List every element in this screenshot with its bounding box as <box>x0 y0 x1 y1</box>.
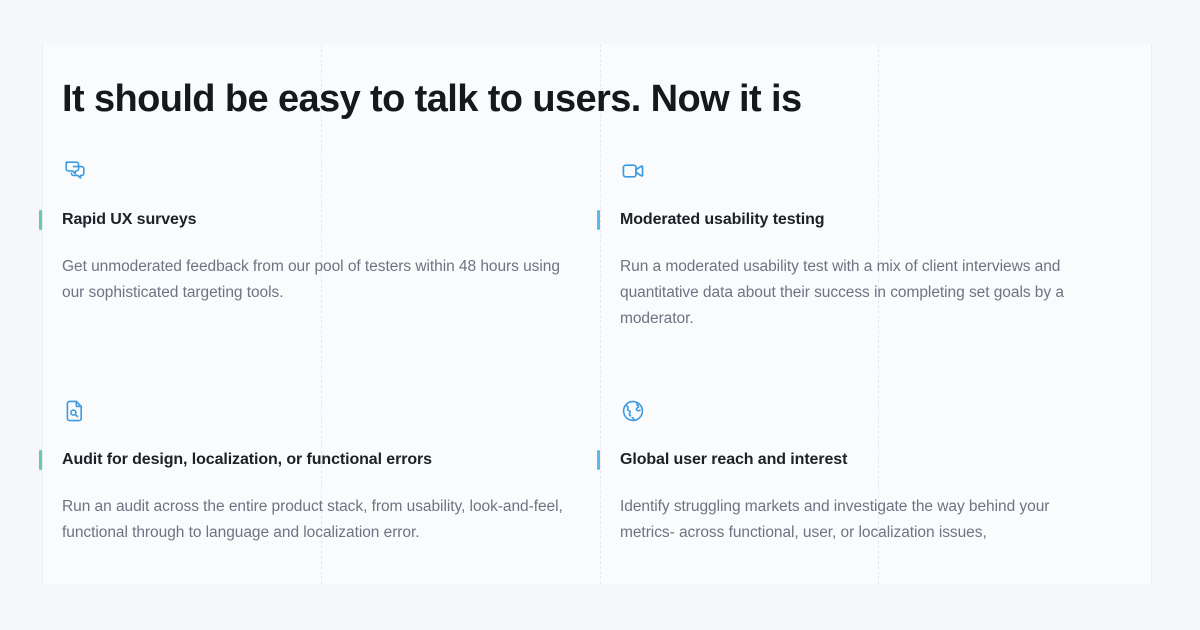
accent-bar <box>597 450 600 470</box>
feature-grid: Rapid UX surveys Get unmoderated feedbac… <box>62 158 1132 561</box>
chat-bubbles-icon <box>62 158 586 184</box>
feature-description: Identify struggling markets and investig… <box>620 494 1098 546</box>
feature-title-row: Audit for design, localization, or funct… <box>62 450 586 470</box>
section-headline: It should be easy to talk to users. Now … <box>62 44 1132 122</box>
globe-icon <box>620 398 1098 424</box>
feature-title: Moderated usability testing <box>620 210 824 230</box>
feature-description: Run an audit across the entire product s… <box>62 494 572 546</box>
page-root: It should be easy to talk to users. Now … <box>0 0 1200 630</box>
feature-card-rapid-ux-surveys: Rapid UX surveys Get unmoderated feedbac… <box>62 158 620 348</box>
accent-bar <box>39 210 42 230</box>
feature-title-row: Rapid UX surveys <box>62 210 586 230</box>
feature-description: Run a moderated usability test with a mi… <box>620 254 1098 332</box>
feature-title: Audit for design, localization, or funct… <box>62 450 432 470</box>
section-content: It should be easy to talk to users. Now … <box>62 44 1132 584</box>
accent-bar <box>597 210 600 230</box>
feature-title-row: Global user reach and interest <box>620 450 1098 470</box>
feature-title: Global user reach and interest <box>620 450 847 470</box>
file-search-icon <box>62 398 586 424</box>
feature-description: Get unmoderated feedback from our pool o… <box>62 254 572 306</box>
feature-card-audit-for-errors: Audit for design, localization, or funct… <box>62 398 620 562</box>
accent-bar <box>39 450 42 470</box>
feature-card-moderated-usability-testing: Moderated usability testing Run a modera… <box>620 158 1132 348</box>
video-camera-icon <box>620 158 1098 184</box>
feature-title: Rapid UX surveys <box>62 210 196 230</box>
feature-card-global-user-reach: Global user reach and interest Identify … <box>620 398 1132 562</box>
feature-title-row: Moderated usability testing <box>620 210 1098 230</box>
